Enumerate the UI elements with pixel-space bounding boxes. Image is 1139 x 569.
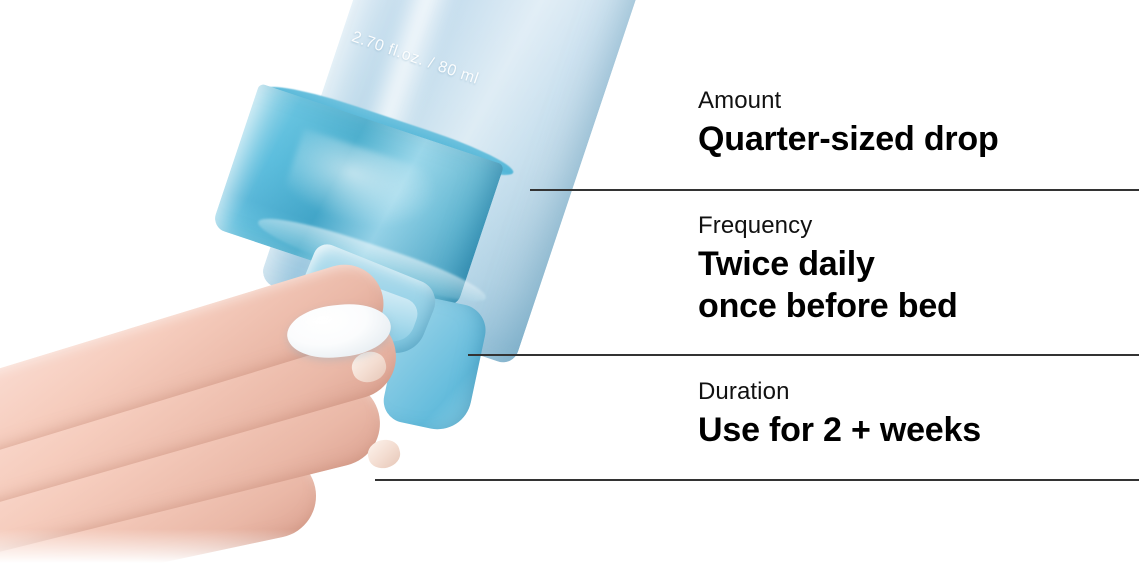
duration-label: Duration [698, 379, 981, 405]
divider-after-frequency [468, 354, 1139, 356]
instruction-row-amount: Amount Quarter-sized drop [698, 88, 999, 161]
divider-after-duration [375, 479, 1139, 481]
instruction-card: 2.70 fl.oz. / 80 ml Amount Quarter-sized… [0, 0, 1139, 569]
amount-value: Quarter-sized drop [698, 119, 999, 160]
instruction-row-duration: Duration Use for 2 + weeks [698, 379, 981, 452]
instruction-list: Amount Quarter-sized drop Frequency Twic… [0, 0, 1139, 569]
duration-value: Use for 2 + weeks [698, 410, 981, 451]
frequency-value: Twice daily once before bed [698, 244, 958, 327]
divider-after-amount [530, 189, 1139, 191]
amount-label: Amount [698, 88, 999, 114]
frequency-label: Frequency [698, 213, 958, 239]
instruction-row-frequency: Frequency Twice daily once before bed [698, 213, 958, 327]
